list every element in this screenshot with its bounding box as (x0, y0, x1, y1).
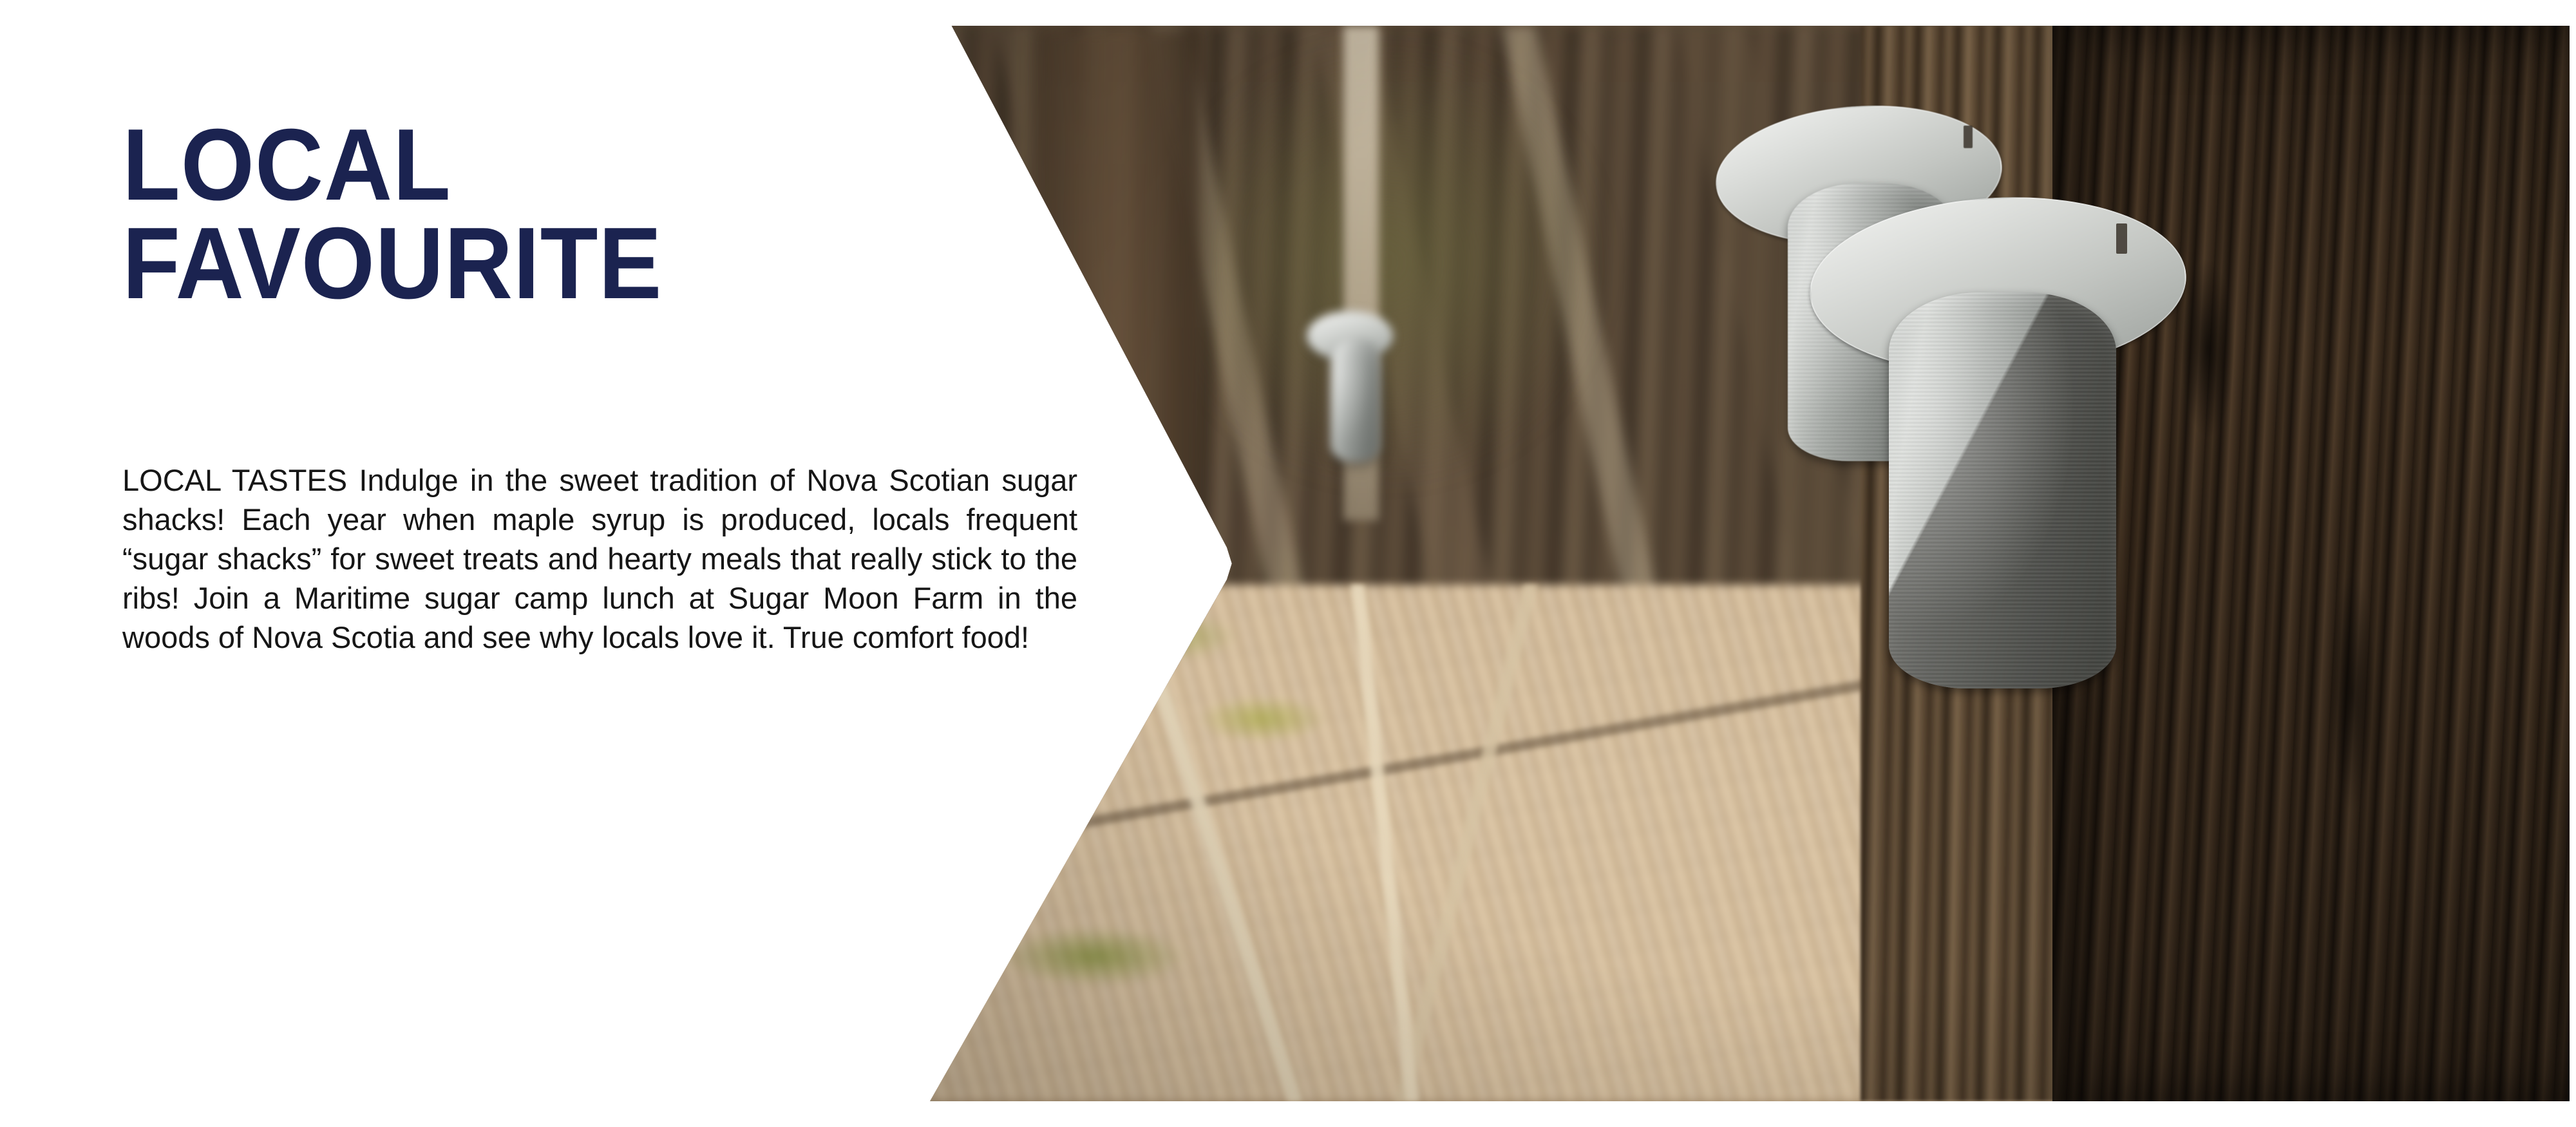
bucket-body (1331, 339, 1381, 462)
promo-banner: LOCAL FAVOURITE LOCAL TASTES Indulge in … (0, 0, 2576, 1127)
bucket-hook-icon (2116, 223, 2128, 254)
page-title: LOCAL FAVOURITE (122, 116, 662, 314)
text-column: LOCAL FAVOURITE LOCAL TASTES Indulge in … (122, 0, 1079, 1127)
sap-bucket-distant (1327, 311, 1387, 451)
forest-scene (902, 26, 2570, 1101)
body-paragraph: LOCAL TASTES Indulge in the sweet tradit… (122, 460, 1077, 657)
sap-bucket-front (1861, 198, 2144, 628)
bucket-body (1889, 292, 2116, 688)
bucket-hook-icon (1964, 126, 1973, 148)
hero-photo (902, 26, 2570, 1101)
